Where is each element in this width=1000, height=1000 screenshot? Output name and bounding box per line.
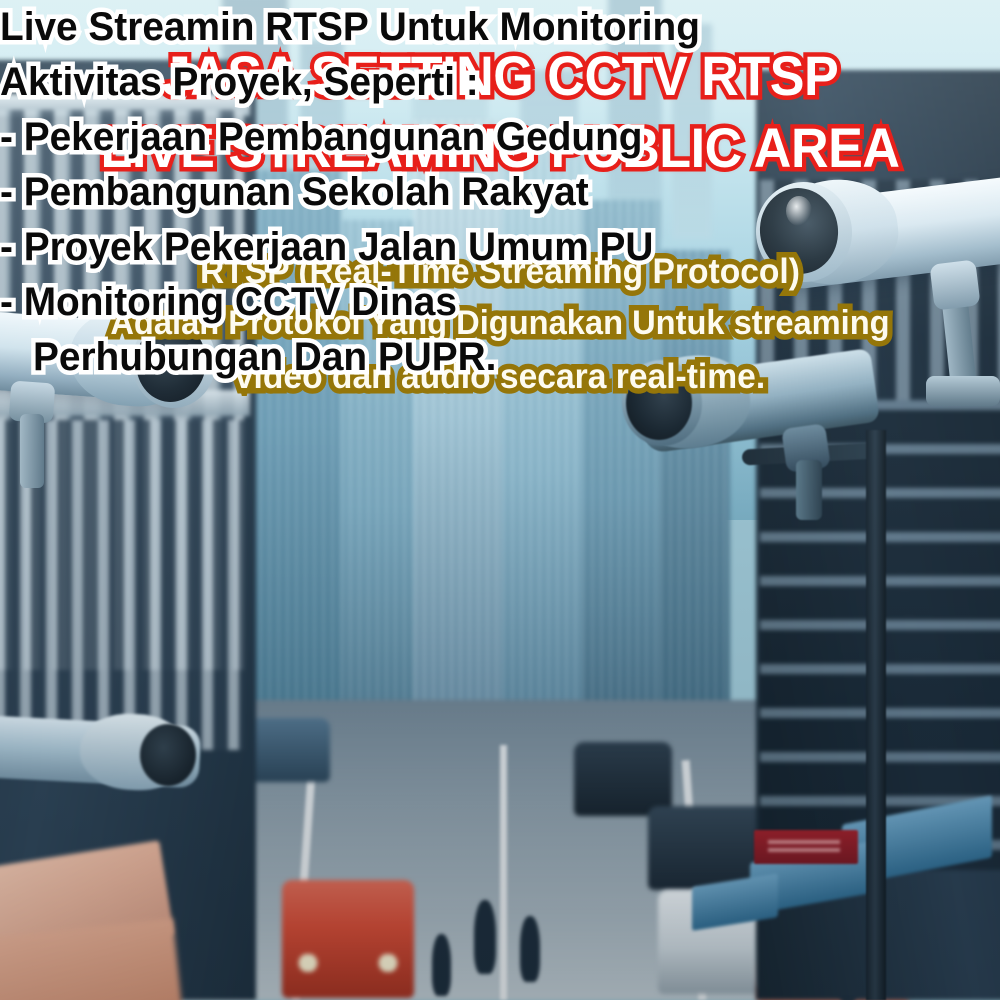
body-bullet-3: - Proyek Pekerjaan Jalan Umum PU — [0, 220, 873, 275]
body-line-2: Aktivitas Proyek, Seperti : — [0, 55, 873, 110]
body-bullet-2: - Pembangunan Sekolah Rakyat — [0, 165, 873, 220]
poster-canvas: JASA SETTING CCTV RTSP LIVE STREAMING PU… — [0, 0, 1000, 1000]
body-bullet-4-continuation: Perhubungan Dan PUPR. — [0, 330, 873, 385]
body-line-1: Live Streamin RTSP Untuk Monitoring — [0, 0, 873, 55]
body-bullet-1: - Pekerjaan Pembangunan Gedung — [0, 110, 873, 165]
body-copy: Live Streamin RTSP Untuk Monitoring Akti… — [0, 0, 873, 385]
text-overlay: JASA SETTING CCTV RTSP LIVE STREAMING PU… — [0, 0, 1000, 1000]
body-bullet-4: - Monitoring CCTV Dinas — [0, 275, 873, 330]
